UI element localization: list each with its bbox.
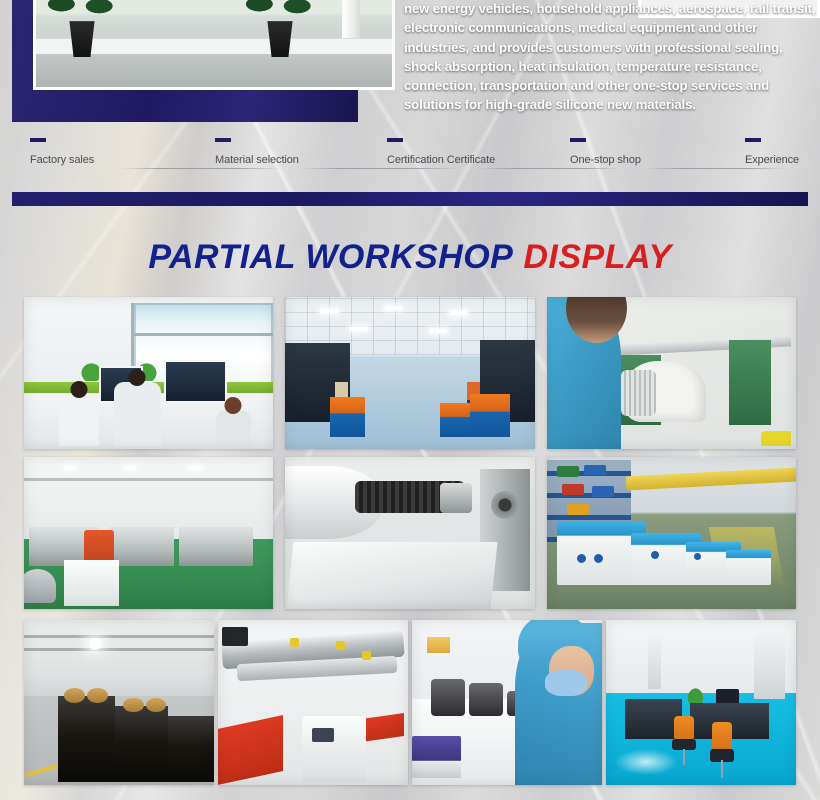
factory-corridor-photo [36, 0, 392, 87]
feature-item-certification-certificate[interactable]: Certification Certificate [387, 138, 495, 166]
feature-label: Certification Certificate [387, 154, 495, 166]
feature-strip: Factory sales Material selection Certifi… [0, 138, 820, 190]
drum-lid [123, 698, 144, 713]
feature-label: One-stop shop [570, 154, 641, 166]
workshop-photo-cleanroom-inspection[interactable] [412, 620, 602, 785]
office-person [114, 382, 161, 446]
measuring-machine [648, 633, 661, 689]
chair-post [721, 760, 723, 778]
ceiling-lamp-icon [320, 309, 337, 313]
hero-banner: materials, rubber sheets, silicone rubbe… [0, 0, 820, 130]
adjust-knob [290, 638, 299, 647]
hero-paragraph: materials, rubber sheets, silicone rubbe… [404, 0, 816, 114]
workshop-photo-extrusion-line[interactable] [24, 457, 273, 609]
workshop-photo-cnc-hall[interactable] [285, 297, 534, 449]
adjust-knob [336, 641, 345, 650]
feature-item-material-selection[interactable]: Material selection [215, 138, 299, 166]
page-title-main: PARTIAL WORKSHOP [148, 238, 513, 276]
ceiling-lamp-icon [430, 329, 447, 333]
yellow-guard [761, 431, 791, 446]
drive-motor [222, 627, 249, 647]
chair-back [712, 722, 732, 751]
chair-back [674, 716, 694, 742]
machine-number-badge [577, 554, 586, 563]
adjust-knob [362, 651, 371, 660]
silicone-bellows-part [621, 370, 656, 416]
feature-connector-2 [300, 168, 460, 169]
material-drum-stack [165, 716, 214, 782]
workshop-photo-die-cutting-line[interactable] [218, 620, 408, 785]
parts-bin [567, 504, 589, 515]
workshop-photo-injection-molding-hall[interactable] [547, 457, 796, 609]
chair-post [683, 749, 685, 765]
material-drum-stack [58, 696, 115, 782]
feature-item-factory-sales[interactable]: Factory sales [30, 138, 94, 166]
parts-bin [562, 484, 584, 495]
feature-connector-4 [645, 168, 785, 169]
feature-connector-1 [120, 168, 280, 169]
ceiling-lamp-icon [89, 638, 101, 650]
workshop-photo-raw-material-warehouse[interactable] [24, 620, 214, 785]
control-cabinet [64, 560, 119, 606]
tool-cart [330, 397, 365, 437]
parts-bag [469, 683, 503, 716]
office-monitor [164, 360, 228, 404]
parts-bin [584, 465, 606, 476]
office-person [59, 394, 99, 446]
feature-dash-icon [215, 138, 231, 142]
ceiling-beam [24, 648, 214, 651]
roller-collar [440, 483, 472, 513]
parts-bag [431, 679, 465, 715]
ceiling-lamp-icon [450, 311, 467, 315]
ceiling-lamp-icon [124, 466, 136, 469]
feature-dash-icon [745, 138, 761, 142]
ceiling-lamp-icon [350, 327, 367, 331]
page-title-accent: DISPLAY [523, 238, 671, 276]
packing-foam [427, 637, 450, 654]
extruder-unit [179, 527, 254, 567]
ceiling-lamp-icon [64, 466, 76, 469]
machine-operator [547, 297, 622, 449]
ceiling-lamp-icon [189, 466, 201, 469]
parts-bin [592, 486, 614, 497]
floor-glare [614, 749, 679, 775]
ceiling-beam [24, 478, 273, 481]
parts-bin [557, 466, 579, 477]
hero-paragraph-body: new energy vehicles, household appliance… [404, 1, 815, 112]
drum-lid [87, 688, 108, 703]
feature-label: Experience [745, 154, 799, 166]
office-person [216, 410, 251, 446]
tool-cart [440, 403, 470, 436]
measuring-machine [754, 630, 784, 699]
floor-aisle-marking [24, 763, 62, 777]
workshop-photo-design-office[interactable] [24, 297, 273, 449]
extruder-die-head [84, 530, 114, 563]
red-material-web [218, 715, 283, 785]
feature-item-experience[interactable]: Experience [745, 138, 799, 166]
ceiling-beam [24, 635, 214, 638]
product-detail-page: materials, rubber sheets, silicone rubbe… [0, 0, 820, 800]
injection-molding-machine [726, 550, 771, 585]
green-fixture [729, 340, 771, 425]
feature-dash-icon [30, 138, 46, 142]
red-material-web [362, 713, 404, 742]
feature-label: Factory sales [30, 154, 94, 166]
feature-dash-icon [387, 138, 403, 142]
feature-label: Material selection [215, 154, 299, 166]
corridor-floor [36, 54, 392, 87]
workshop-gallery-row-2 [24, 457, 796, 609]
feature-dash-icon [570, 138, 586, 142]
feature-connector-3 [480, 168, 620, 169]
office-chair [709, 722, 736, 778]
workshop-photo-metrology-lab[interactable] [606, 620, 796, 785]
operator-console [302, 716, 367, 782]
workshop-photo-calender-roller[interactable] [285, 457, 534, 609]
material-drum-stack [115, 706, 168, 782]
face-mask-icon [545, 670, 587, 696]
overhead-crane [626, 468, 796, 491]
workshop-gallery-row-1 [24, 297, 796, 449]
section-divider-bar [12, 192, 808, 206]
ceiling-lamp-icon [385, 306, 402, 310]
metal-drum [24, 569, 56, 602]
counting-scale [412, 736, 461, 779]
drum-lid [64, 688, 85, 703]
page-title: PARTIAL WORKSHOPDISPLAY [0, 238, 820, 277]
hero-left-photo-frame [33, 0, 395, 90]
warehouse-hall [24, 620, 214, 696]
feature-item-one-stop-shop[interactable]: One-stop shop [570, 138, 641, 166]
workshop-photo-silicone-elbow-forming[interactable] [547, 297, 796, 449]
workshop-gallery-row-3 [24, 620, 796, 785]
silicone-sheet [287, 542, 498, 609]
tool-cart [470, 394, 510, 437]
